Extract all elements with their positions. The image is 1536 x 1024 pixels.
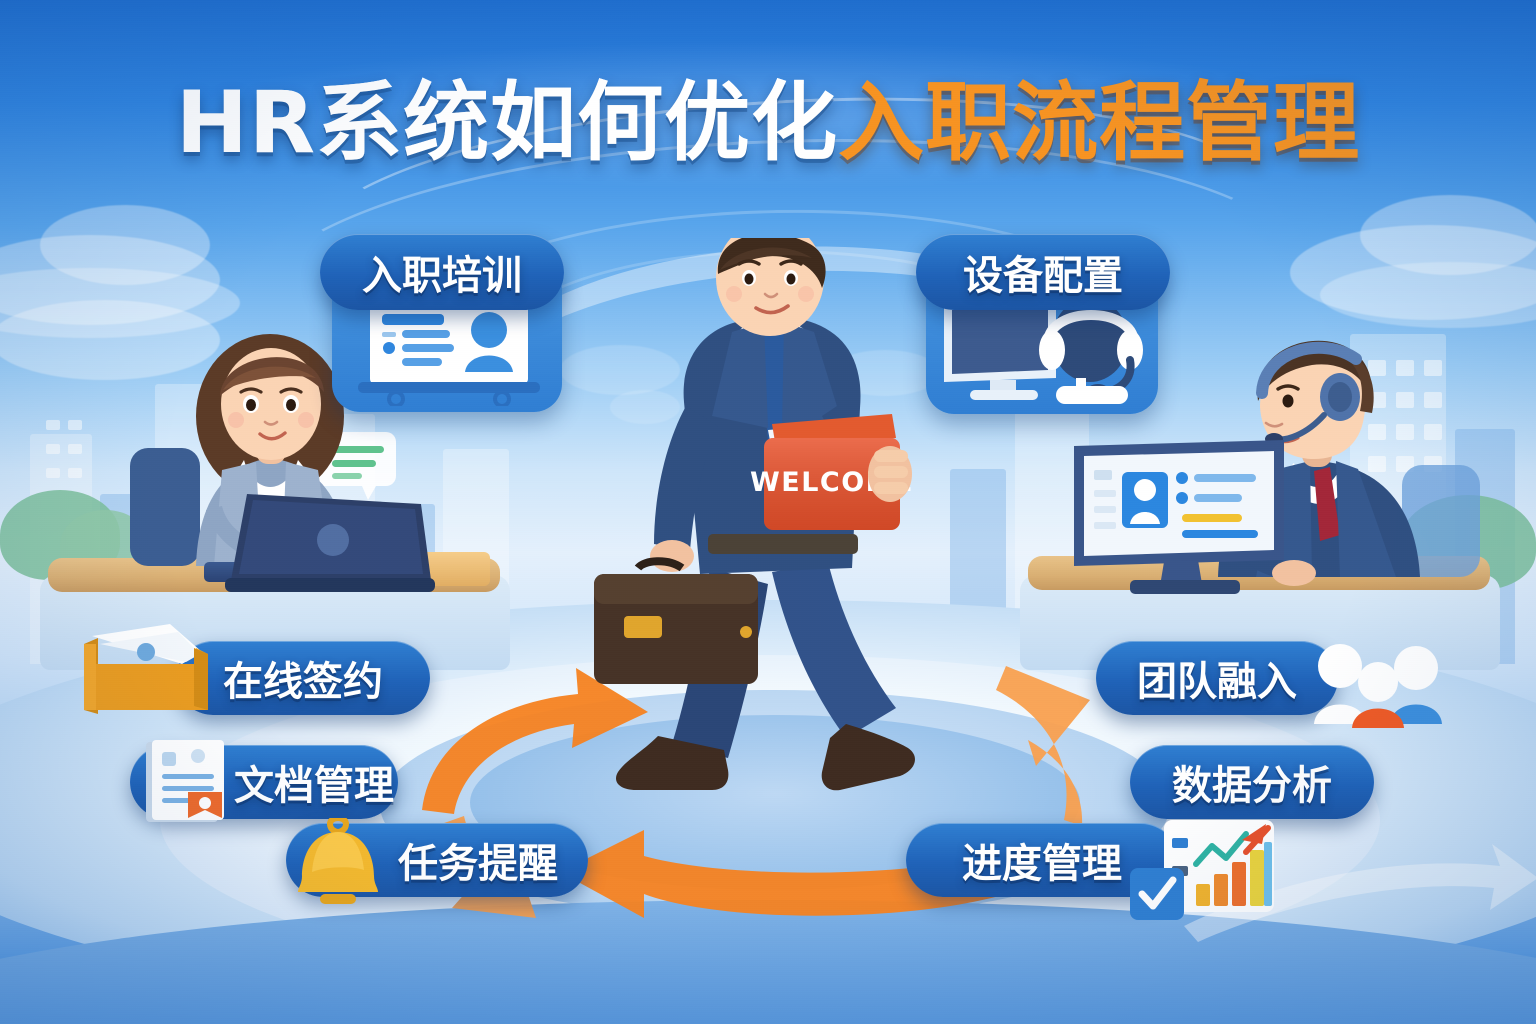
title-white-segment: HR系统如何优化 — [176, 73, 838, 173]
page-title: HR系统如何优化入职流程管理 — [0, 52, 1536, 177]
pill-onboarding-training[interactable]: 入职培训 — [320, 234, 564, 310]
pill-task-reminder-label: 任务提醒 — [398, 831, 558, 889]
pill-data-analysis[interactable]: 数据分析 — [1130, 745, 1374, 819]
pill-document-management-label: 文档管理 — [234, 753, 394, 811]
pill-data-analysis-label: 数据分析 — [1172, 753, 1332, 811]
pill-online-signing-label: 在线签约 — [223, 649, 383, 707]
new-employee-businessman: WELCOME — [560, 238, 970, 818]
document-file-icon — [140, 738, 232, 826]
pill-equipment-config[interactable]: 设备配置 — [916, 234, 1170, 310]
title-orange-segment: 入职流程管理 — [838, 73, 1360, 173]
team-group-icon — [1312, 638, 1442, 730]
monitor-headset-icon — [938, 296, 1144, 408]
bell-icon — [290, 818, 386, 908]
desktop-monitor-icon — [1060, 438, 1300, 598]
pill-team-integration[interactable]: 团队融入 — [1096, 641, 1338, 715]
pill-progress-management-label: 进度管理 — [962, 831, 1122, 889]
pill-team-integration-label: 团队融入 — [1137, 649, 1297, 707]
presentation-board-icon — [356, 296, 542, 406]
checkbox-checked-icon — [1128, 866, 1186, 922]
document-tray-icon — [74, 618, 224, 724]
infographic-canvas: HR系统如何优化入职流程管理 — [0, 0, 1536, 1024]
pill-onboarding-training-label: 入职培训 — [362, 243, 522, 301]
laptop-icon — [225, 488, 435, 598]
pill-equipment-config-label: 设备配置 — [963, 243, 1123, 301]
